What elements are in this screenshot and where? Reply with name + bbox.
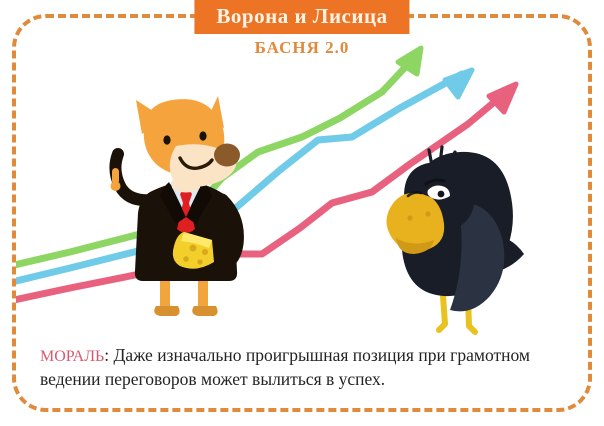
crow-beak [386, 193, 444, 254]
fox-left-arm-pointing [111, 154, 153, 200]
fox-head [136, 96, 240, 187]
page-title: Ворона и Лисица [216, 4, 387, 28]
subtitle: БАСНЯ 2.0 [0, 38, 604, 58]
fox-eye-left [163, 135, 170, 144]
fox-character [111, 96, 241, 316]
fox-eye-right [199, 131, 206, 140]
moral-label: МОРАЛЬ [40, 348, 104, 365]
fable-illustration-card: Ворона и Лисица БАСНЯ 2.0 МОРАЛЬ: Даже и… [0, 0, 604, 426]
crow-character [386, 147, 524, 332]
title-banner: Ворона и Лисица [194, 0, 409, 34]
moral-block: МОРАЛЬ: Даже изначально проигрышная пози… [40, 344, 568, 390]
moral-text: Даже изначально проигрышная позиция при … [40, 345, 530, 389]
